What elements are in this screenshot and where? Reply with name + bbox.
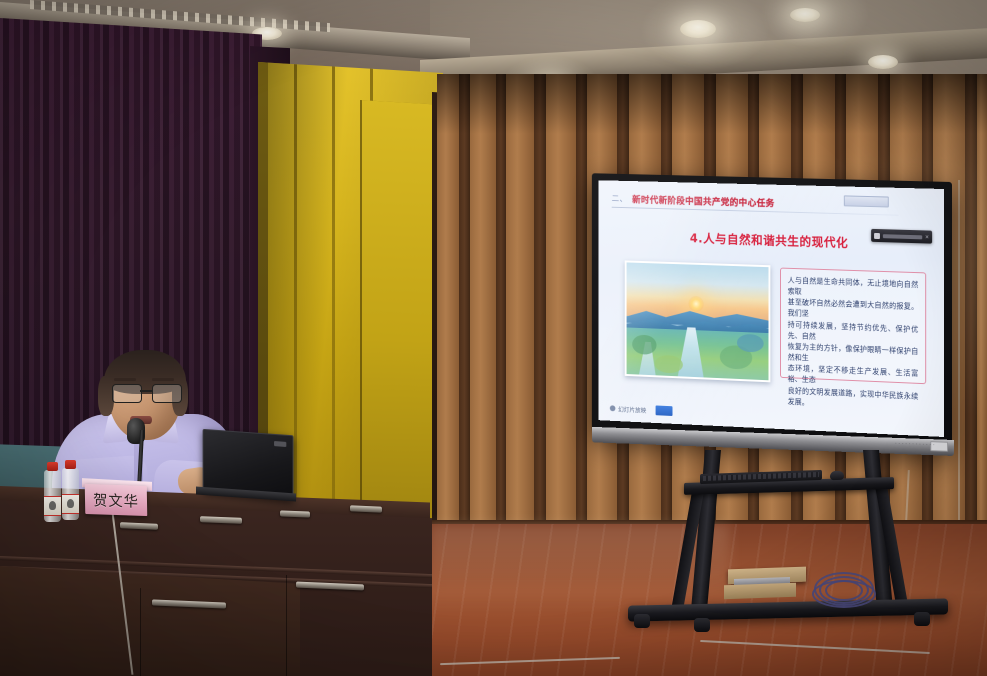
- interactive-flat-panel[interactable]: 二、 新时代新阶段中国共产党的中心任务 4.人与自然和谐共生的现代化: [576, 182, 952, 462]
- bottle-label-mark: [49, 501, 56, 510]
- lecture-hall-photo: 二、 新时代新阶段中国共产党的中心任务 4.人与自然和谐共生的现代化: [0, 0, 987, 676]
- ceiling-downlight: [790, 8, 820, 22]
- close-icon[interactable]: ×: [925, 234, 929, 240]
- podium-desk-lower: [0, 566, 300, 676]
- yellow-door-panel: [360, 100, 440, 535]
- glasses-bridge: [140, 390, 152, 392]
- annotation-toolbar-widget[interactable]: ×: [871, 229, 932, 244]
- section-marker: 二、: [612, 193, 628, 204]
- slide-body-textbox: 人与自然是生命共同体，无止境地向自然索取 甚至破坏自然必然会遭到大自然的报复。我…: [780, 268, 926, 385]
- desk-panel-seam: [140, 588, 141, 676]
- nameplate-text: 贺文华: [93, 489, 139, 512]
- desk-panel-seam: [286, 575, 287, 676]
- eyebrow: [114, 378, 136, 381]
- pen-icon[interactable]: [874, 232, 880, 238]
- presentation-slide: 二、 新时代新阶段中国共产党的中心任务 4.人与自然和谐共生的现代化: [599, 180, 944, 437]
- taskbar-label: 幻灯片放映: [618, 404, 646, 414]
- laptop-logo-icon: [274, 441, 286, 447]
- ceiling-downlight: [680, 20, 716, 38]
- taskbar-active-app-chip[interactable]: [656, 405, 673, 416]
- slide-taskbar[interactable]: 幻灯片放映: [610, 403, 673, 416]
- body-line: 良好的文明发展道路，实现中华民族永续发展。: [788, 385, 919, 413]
- stand-caster: [694, 618, 710, 632]
- display-brand-label: ············: [895, 441, 936, 448]
- water-bottle[interactable]: [62, 468, 79, 520]
- bottle-cap: [65, 460, 76, 469]
- taskbar-status-item[interactable]: 幻灯片放映: [610, 404, 646, 414]
- stand-caster: [634, 614, 650, 628]
- section-header-text: 新时代新阶段中国共产党的中心任务: [632, 192, 774, 209]
- desk-drawer-handle[interactable]: [280, 510, 310, 517]
- coiled-cable: [812, 568, 878, 606]
- water-bottle[interactable]: [44, 470, 61, 522]
- stand-caster: [914, 612, 930, 626]
- bottle-label: [62, 494, 79, 514]
- wall-cable: [958, 180, 960, 540]
- slide-image-landscape: [625, 260, 771, 382]
- glasses-lens-right: [152, 384, 182, 403]
- eyeglasses-icon: [110, 384, 182, 402]
- glasses-lens-left: [112, 384, 142, 403]
- header-chip: [844, 195, 889, 207]
- cardboard-box: [724, 583, 796, 600]
- display-screen[interactable]: 二、 新时代新阶段中国共产党的中心任务 4.人与自然和谐共生的现代化: [599, 180, 944, 437]
- desk-drawer-handle[interactable]: [350, 505, 382, 512]
- bottle-label: [44, 496, 61, 516]
- computer-mouse[interactable]: [830, 471, 844, 480]
- eyebrow: [152, 378, 174, 381]
- bottle-label-mark: [67, 499, 74, 508]
- ceiling-downlight: [868, 55, 898, 69]
- toolbar-label-bar: [883, 234, 922, 239]
- keyboard-keys: [703, 472, 819, 481]
- status-dot-icon: [610, 405, 616, 411]
- bottle-cap: [47, 462, 58, 471]
- atmospheric-haze: [627, 262, 769, 380]
- speaker-nameplate: 贺文华: [85, 484, 148, 516]
- mobile-tv-stand: [624, 450, 954, 650]
